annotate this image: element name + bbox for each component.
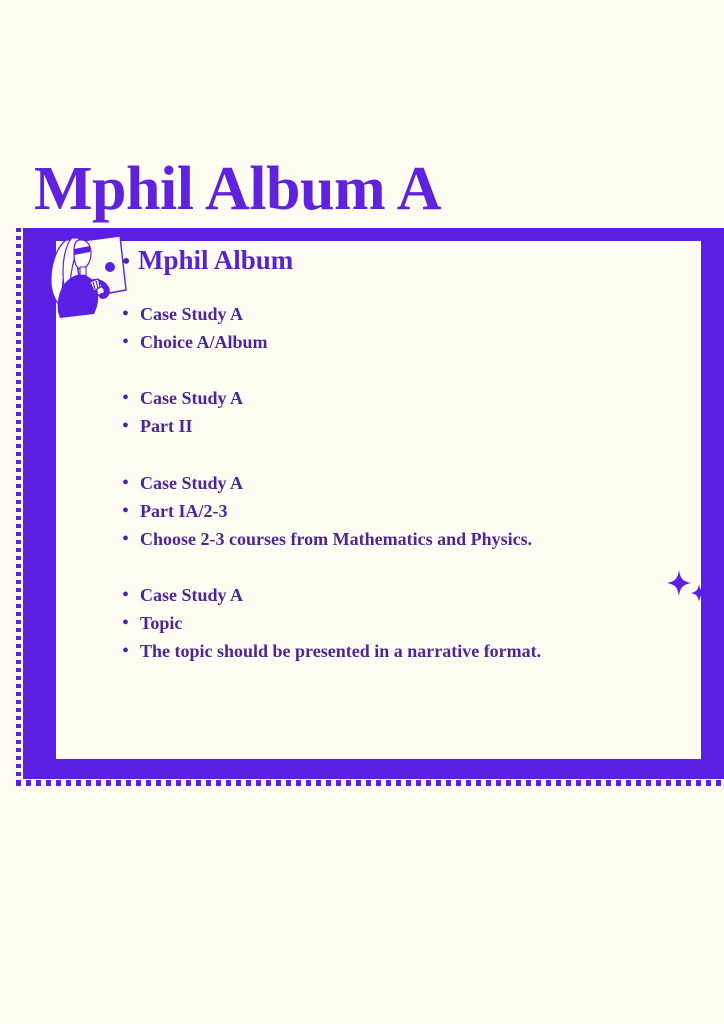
bullet-group: • Case Study A • Choice A/Album [122, 304, 268, 360]
bullet-icon: • [122, 332, 140, 352]
list-item: • Part II [122, 416, 243, 444]
bullet-group: • Case Study A • Part II [122, 388, 243, 444]
bullet-icon: • [122, 501, 140, 521]
list-item: • Choose 2-3 courses from Mathematics an… [122, 529, 532, 557]
list-item: • Choice A/Album [122, 332, 268, 360]
bullet-icon: • [122, 416, 140, 436]
card-heading-row: • Mphil Album [122, 246, 293, 276]
list-item-label: Case Study A [140, 473, 243, 495]
list-item-label: Part II [140, 416, 193, 438]
list-item-label: Case Study A [140, 585, 243, 607]
bullet-icon: • [122, 529, 140, 549]
bullet-icon: • [122, 585, 140, 605]
list-item: • Case Study A [122, 585, 541, 613]
slide-root: Mphil Album A • Mphil Album • Case Study… [0, 0, 724, 1024]
bullet-content: • Mphil Album • Case Study A • Choice A/… [16, 228, 724, 786]
list-item-label: Case Study A [140, 304, 243, 326]
bullet-icon: • [122, 304, 140, 324]
page-title: Mphil Album A [34, 152, 441, 226]
list-item: • Part IA/2-3 [122, 501, 532, 529]
bullet-icon: • [122, 641, 140, 661]
bullet-group: • Case Study A • Topic • The topic shoul… [122, 585, 541, 669]
list-item: • Topic [122, 613, 541, 641]
list-item: • Case Study A [122, 473, 532, 501]
bullet-group: • Case Study A • Part IA/2-3 • Choose 2-… [122, 473, 532, 557]
bullet-icon: • [122, 473, 140, 493]
bullet-icon: • [122, 613, 140, 633]
list-item-label: Topic [140, 613, 182, 635]
bullet-icon: • [122, 250, 138, 274]
list-item-label: The topic should be presented in a narra… [140, 641, 541, 663]
list-item-label: Case Study A [140, 388, 243, 410]
list-item: • Case Study A [122, 388, 243, 416]
list-item-label: Part IA/2-3 [140, 501, 227, 523]
bullet-icon: • [122, 388, 140, 408]
list-item: • The topic should be presented in a nar… [122, 641, 541, 669]
content-frame: • Mphil Album • Case Study A • Choice A/… [16, 228, 724, 786]
list-item-label: Choice A/Album [140, 332, 268, 354]
list-item-label: Choose 2-3 courses from Mathematics and … [140, 529, 532, 551]
list-item: • Case Study A [122, 304, 268, 332]
card-heading-label: Mphil Album [138, 246, 293, 276]
